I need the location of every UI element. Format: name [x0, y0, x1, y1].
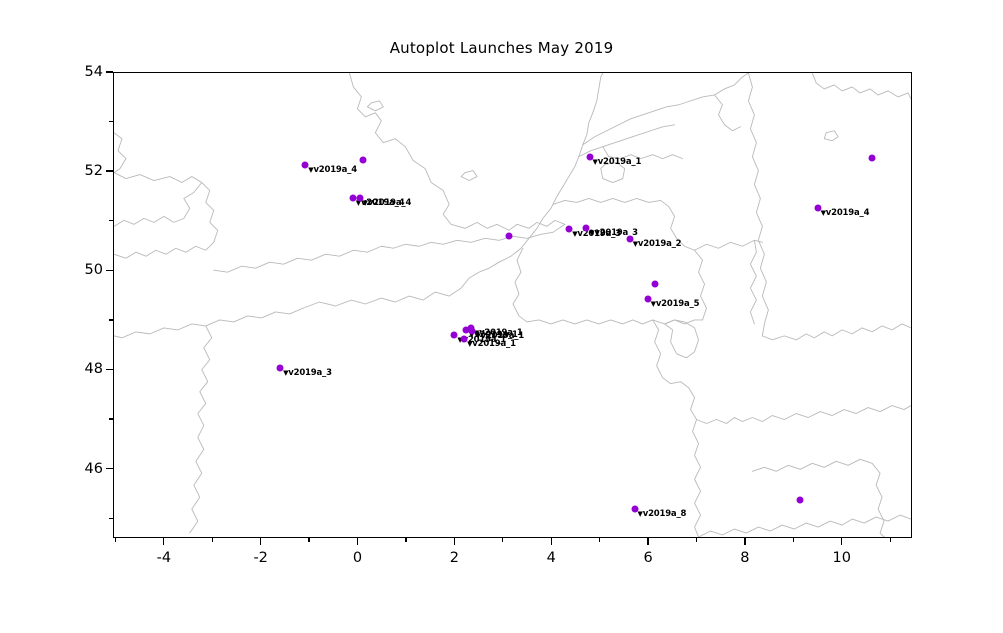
x-tick-label: -2 — [253, 550, 267, 566]
x-tick-minor — [599, 538, 600, 542]
y-tick-major — [106, 170, 113, 171]
data-point-label: ▼v2019a_4 — [821, 208, 870, 218]
data-point-label: ▼v2019a_8 — [638, 509, 687, 519]
x-tick-label: 8 — [740, 550, 749, 566]
chart-title: Autoplot Launches May 2019 — [0, 39, 1003, 57]
x-tick-minor — [502, 538, 503, 542]
x-tick-minor — [793, 538, 794, 542]
x-tick-minor — [405, 538, 406, 542]
x-tick-label: -4 — [157, 550, 171, 566]
y-tick-label: 50 — [61, 262, 103, 278]
x-tick-label: 2 — [450, 550, 459, 566]
y-tick-major — [106, 270, 113, 271]
data-point-label: ▼v2019a_1 — [593, 157, 642, 167]
y-tick-minor — [109, 319, 113, 320]
x-tick-minor — [308, 538, 309, 542]
y-tick-minor — [109, 121, 113, 122]
y-tick-label: 54 — [61, 64, 103, 80]
x-tick-minor — [212, 538, 213, 542]
data-point-label: ▼v2019a_2 — [633, 239, 682, 249]
y-tick-label: 52 — [61, 163, 103, 179]
x-tick-label: 4 — [547, 550, 556, 566]
data-point — [360, 156, 367, 163]
x-tick-minor — [115, 538, 116, 542]
x-tick-major — [163, 538, 164, 545]
x-tick-minor — [890, 538, 891, 542]
x-tick-major — [744, 538, 745, 545]
data-point-label: ▼v2019a_4 — [363, 198, 412, 208]
data-point — [868, 155, 875, 162]
x-tick-major — [841, 538, 842, 545]
data-point — [797, 497, 804, 504]
y-tick-minor — [109, 220, 113, 221]
x-tick-major — [454, 538, 455, 545]
y-tick-major — [106, 468, 113, 469]
x-tick-label: 10 — [833, 550, 851, 566]
x-tick-major — [647, 538, 648, 545]
y-tick-minor — [109, 518, 113, 519]
y-tick-major — [106, 369, 113, 370]
plot-area: ▼v2019a_4▼v2019a_4▼v2019a_4▼v2019a_1▼v20… — [113, 72, 912, 538]
x-tick-label: 0 — [353, 550, 362, 566]
data-point-label: ▼v2019a_1 — [467, 339, 516, 349]
data-point — [651, 280, 658, 287]
data-point-label: ▼v2019a_5 — [651, 299, 700, 309]
x-tick-minor — [696, 538, 697, 542]
x-tick-label: 6 — [643, 550, 652, 566]
basemap-coastlines — [114, 73, 911, 537]
y-tick-major — [106, 71, 113, 72]
x-tick-major — [357, 538, 358, 545]
y-tick-label: 46 — [61, 461, 103, 477]
data-point-label: ▼v2019a_4 — [308, 165, 357, 175]
y-tick-label: 48 — [61, 361, 103, 377]
y-tick-minor — [109, 418, 113, 419]
data-point — [505, 232, 512, 239]
chart-root: Autoplot Launches May 2019 — [0, 0, 1003, 633]
x-tick-major — [260, 538, 261, 545]
x-tick-major — [551, 538, 552, 545]
data-point-label: ▼v2019a_3 — [283, 368, 332, 378]
